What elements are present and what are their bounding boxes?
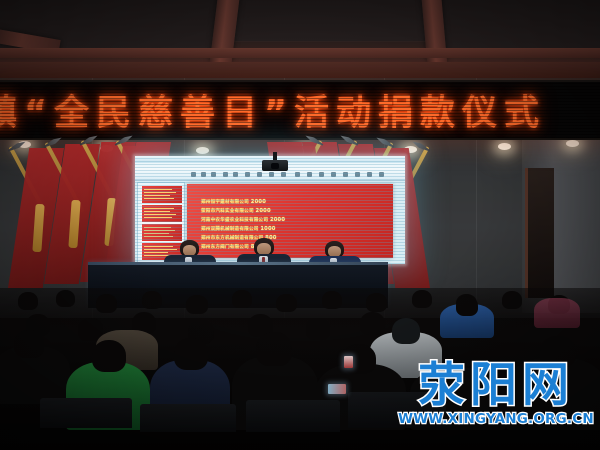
donor-amount: 1000 — [260, 226, 275, 232]
ceiling-downlight — [196, 147, 209, 154]
photo-scene: 镇“全民慈善日”活动捐款仪式 — [0, 0, 600, 450]
audience-device-screen — [328, 384, 346, 394]
audience-head — [456, 296, 478, 316]
donor-name: 荥阳市汽科实业有限公司 — [201, 209, 254, 214]
audience-head — [186, 295, 208, 314]
table-edge — [88, 262, 388, 265]
toolbar-icon[interactable] — [319, 172, 324, 177]
projector-lens — [271, 163, 279, 169]
audience-head — [322, 291, 342, 309]
ceiling — [0, 0, 600, 78]
donor-name: 郑州双腾机械制造有限公司 — [201, 227, 259, 232]
audience-head — [232, 290, 252, 308]
ceiling-panel — [436, 0, 600, 54]
toolbar-icon[interactable] — [191, 172, 196, 177]
toolbar-icon[interactable] — [223, 172, 228, 177]
toolbar-icon[interactable] — [367, 172, 372, 177]
ceiling-downlight — [498, 143, 511, 150]
toolbar-icon[interactable] — [211, 172, 216, 177]
donor-amount: 2000 — [270, 217, 285, 223]
ceiling-downlight — [566, 140, 579, 147]
toolbar-icon[interactable] — [355, 172, 360, 177]
ceiling-rail — [0, 62, 600, 78]
doorway — [525, 168, 554, 298]
toolbar-icon[interactable] — [343, 172, 348, 177]
toolbar-icon[interactable] — [379, 172, 384, 177]
slide-thumbnail[interactable] — [141, 185, 183, 204]
donor-amount: 2000 — [251, 199, 266, 205]
audience-head — [96, 294, 117, 313]
watermark-url: WWW.XINGYANG.ORG.CN — [398, 411, 594, 427]
audience-head — [360, 312, 385, 335]
donor-name: 河南中农华盛农业科技有限公司 — [201, 218, 268, 223]
audience-head — [174, 338, 208, 370]
audience-head — [142, 291, 162, 309]
audience-head — [366, 293, 387, 312]
audience-shoulders — [534, 298, 580, 328]
audience-head — [56, 290, 75, 307]
donor-name: 郑州恒宇建材有限公司 — [201, 200, 249, 205]
audience-head — [306, 318, 330, 340]
watermark: 荥阳网 WWW.XINGYANG.ORG.CN — [398, 362, 594, 427]
audience-device-screen — [344, 356, 353, 368]
led-banner: 镇“全民慈善日”活动捐款仪式 — [0, 80, 600, 140]
audience-head — [412, 290, 432, 308]
toolbar-icon[interactable] — [307, 172, 312, 177]
toolbar-icon[interactable] — [295, 172, 300, 177]
slide-donor-line: 郑州恒宇建材有限公司 2000 — [201, 199, 266, 205]
toolbar-icon[interactable] — [269, 172, 274, 177]
slide-donor-line: 河南中农华盛农业科技有限公司 2000 — [201, 217, 285, 223]
watermark-site-name: 荥阳网 — [398, 362, 594, 409]
led-banner-text: 镇“全民慈善日”活动捐款仪式 — [0, 85, 600, 136]
toolbar-icon[interactable] — [201, 172, 206, 177]
ceiling-panel — [228, 0, 430, 42]
audience-head — [392, 318, 420, 344]
audience-head — [14, 330, 44, 358]
toolbar-icon[interactable] — [257, 172, 262, 177]
audience-head — [276, 294, 297, 312]
ceiling-rail — [0, 48, 600, 58]
seat-back — [246, 400, 340, 432]
toolbar-icon[interactable] — [281, 172, 286, 177]
donor-amount: 2000 — [256, 208, 271, 214]
slide-donor-line: 郑州双腾机械制造有限公司 1000 — [201, 226, 276, 232]
toolbar-icon[interactable] — [331, 172, 336, 177]
audience-head — [92, 340, 126, 372]
ceiling-projector — [262, 152, 288, 172]
toolbar-icon[interactable] — [233, 172, 238, 177]
seat-back — [40, 398, 132, 428]
slide-thumbnail[interactable] — [141, 204, 183, 223]
audience-head — [18, 292, 38, 310]
audience-head — [502, 291, 522, 309]
slide-donor-line: 荥阳市汽科实业有限公司 2000 — [201, 208, 271, 214]
audience-head — [256, 332, 292, 366]
toolbar-icon[interactable] — [245, 172, 250, 177]
seat-back — [140, 404, 236, 432]
